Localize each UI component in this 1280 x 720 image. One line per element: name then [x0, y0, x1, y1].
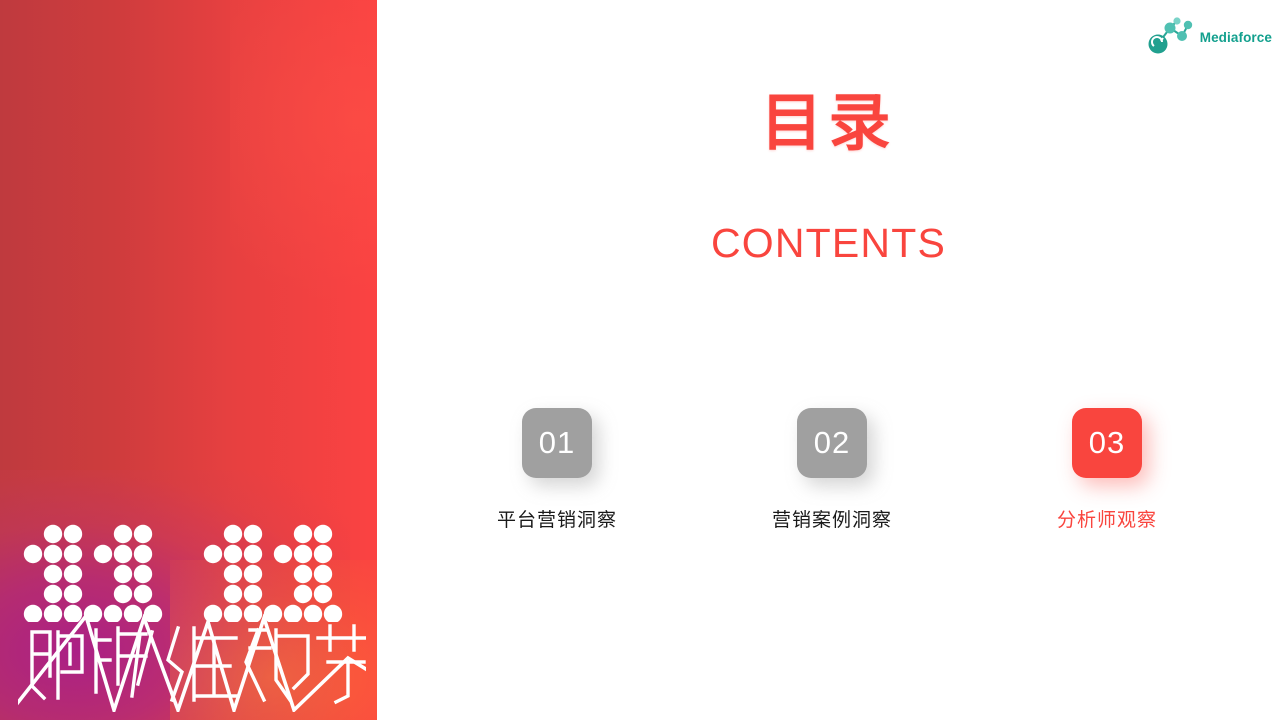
toc-item-01[interactable]: 01 平台营销洞察 — [437, 408, 677, 534]
double-eleven-logo — [18, 522, 366, 712]
carnival-caption-icon — [18, 614, 366, 712]
toc-item-02[interactable]: 02 营销案例洞察 — [712, 408, 952, 534]
toc-badge-01[interactable]: 01 — [522, 408, 592, 478]
toc-label-03[interactable]: 分析师观察 — [1057, 508, 1157, 534]
page-title-english: CONTENTS — [377, 218, 1280, 268]
page-title-chinese: 目录 — [377, 88, 1280, 160]
toc-label-01[interactable]: 平台营销洞察 — [497, 508, 617, 534]
toc-label-02[interactable]: 营销案例洞察 — [772, 508, 892, 534]
slide-canvas: Mediaforce 目录 CONTENTS 01 平台营销洞察 02 营销案例… — [0, 0, 1280, 720]
glow-top-right — [230, 0, 377, 300]
toc-item-03[interactable]: 03 分析师观察 — [987, 408, 1227, 534]
toc-list: 01 平台营销洞察 02 营销案例洞察 03 分析师观察 — [437, 408, 1227, 534]
left-decorative-panel — [0, 0, 377, 720]
dot-matrix-11-11-icon — [18, 522, 366, 622]
toc-badge-03[interactable]: 03 — [1072, 408, 1142, 478]
toc-badge-02[interactable]: 02 — [797, 408, 867, 478]
content-area: 目录 CONTENTS 01 平台营销洞察 02 营销案例洞察 03 分析师观察 — [377, 0, 1280, 720]
